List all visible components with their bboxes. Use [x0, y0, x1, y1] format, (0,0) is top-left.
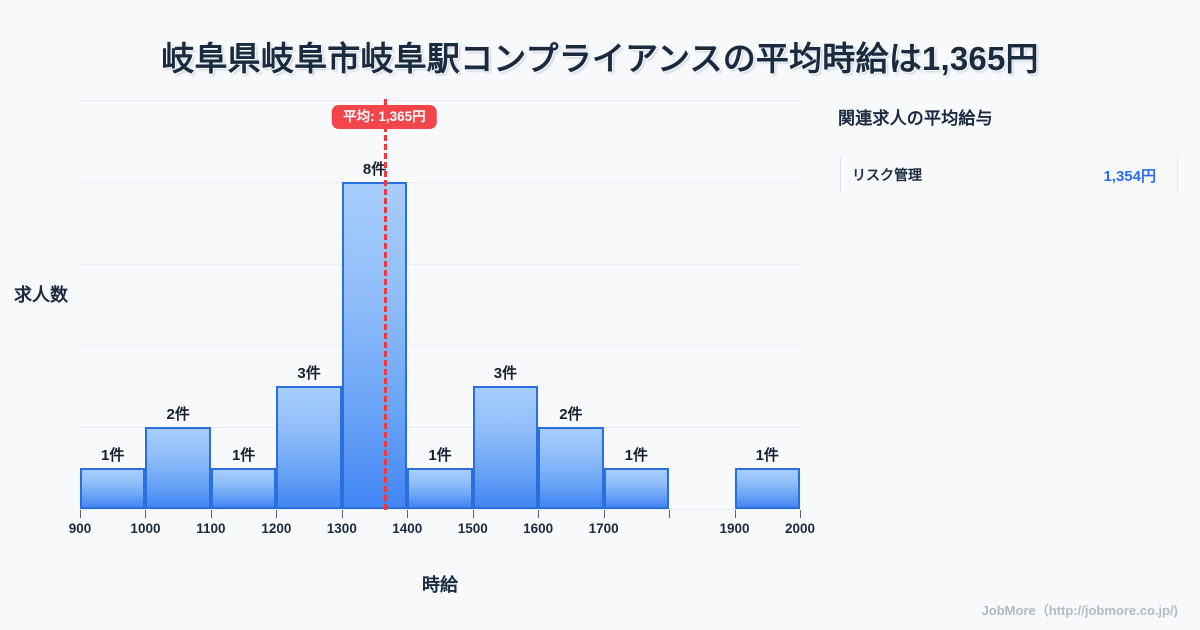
bar-value-label: 1件	[211, 444, 276, 465]
x-axis-tick	[342, 510, 343, 518]
gridline	[80, 264, 800, 265]
related-salary-value: 1,354円	[1103, 165, 1156, 186]
x-axis-tick	[145, 510, 146, 518]
x-axis-title: 時給	[0, 571, 880, 597]
histogram-bar[interactable]	[538, 427, 603, 509]
x-axis-tick-label: 900	[69, 521, 92, 536]
bar-value-label: 3件	[473, 362, 538, 383]
x-axis-tick-label: 1300	[327, 521, 357, 536]
x-axis-tick-label: 1900	[720, 521, 750, 536]
x-axis-tick-label: 1100	[196, 521, 225, 536]
histogram-bar[interactable]	[211, 468, 276, 509]
related-salary-panel: 関連求人の平均給与 リスク管理1,354円	[838, 100, 1178, 196]
x-axis-tick	[276, 510, 277, 518]
x-axis-tick-label: 1600	[523, 521, 553, 536]
x-axis-tick	[80, 510, 81, 518]
x-axis-tick	[407, 510, 408, 518]
bar-value-label: 2件	[145, 403, 210, 424]
bar-value-label: 3件	[276, 362, 341, 383]
average-badge: 平均: 1,365円	[332, 105, 437, 129]
attribution-text: JobMore（http://jobmore.co.jp/)	[982, 600, 1178, 619]
related-salary-heading: 関連求人の平均給与	[838, 104, 1178, 129]
y-axis-title: 求人数	[14, 281, 68, 307]
histogram-chart: 求人数 時給 1件2件1件3件8件1件3件2件1件1件9001000110012…	[0, 0, 830, 630]
bar-value-label: 8件	[342, 158, 407, 179]
histogram-bar[interactable]	[276, 386, 341, 509]
x-axis-tick-label: 1500	[458, 521, 488, 536]
x-axis-tick	[604, 510, 605, 518]
bar-value-label: 1件	[80, 444, 145, 465]
bar-value-label: 1件	[735, 444, 800, 465]
x-axis-tick	[800, 510, 801, 518]
x-axis-tick	[473, 510, 474, 518]
histogram-bar[interactable]	[473, 386, 538, 509]
related-salary-row[interactable]: リスク管理1,354円	[838, 154, 1178, 196]
x-axis-tick	[538, 510, 539, 518]
gridline	[80, 100, 800, 101]
x-axis-tick-label: 1700	[589, 521, 619, 536]
x-axis-tick	[669, 510, 670, 518]
x-axis-tick-label: 1200	[261, 521, 291, 536]
page-root: 岐阜県岐阜市岐阜駅コンプライアンスの平均時給は1,365円 求人数 時給 1件2…	[0, 0, 1200, 630]
histogram-bar[interactable]	[407, 468, 472, 509]
bar-value-label: 2件	[538, 403, 603, 424]
related-salary-name: リスク管理	[852, 165, 922, 185]
histogram-bar[interactable]	[735, 468, 800, 509]
x-axis-tick	[211, 510, 212, 518]
histogram-bar[interactable]	[145, 427, 210, 509]
gridline	[80, 509, 800, 510]
x-axis-tick-label: 2000	[785, 521, 815, 536]
plot-area: 1件2件1件3件8件1件3件2件1件1件90010001100120013001…	[80, 100, 800, 510]
average-marker-line	[384, 99, 387, 510]
x-axis-tick-label: 1400	[392, 521, 422, 536]
gridline	[80, 182, 800, 183]
related-salary-list: リスク管理1,354円	[838, 154, 1178, 196]
gridline	[80, 345, 800, 346]
bar-value-label: 1件	[604, 444, 669, 465]
x-axis-tick	[735, 510, 736, 518]
histogram-bar[interactable]	[342, 182, 407, 509]
histogram-bar[interactable]	[604, 468, 669, 509]
x-axis-tick-label: 1000	[130, 521, 160, 536]
histogram-bar[interactable]	[80, 468, 145, 509]
bar-value-label: 1件	[407, 444, 472, 465]
